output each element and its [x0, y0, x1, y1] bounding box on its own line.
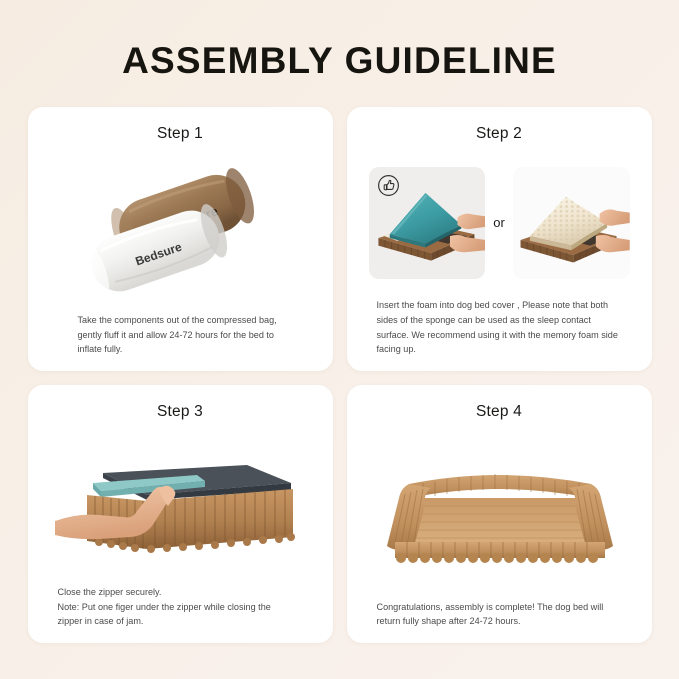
step-3-title: Step 3 — [50, 403, 311, 421]
step-1-title: Step 1 — [50, 125, 311, 143]
step-2-option-memory-foam — [513, 167, 630, 279]
step-card-4: Step 4 — [347, 385, 652, 643]
step-1-illustration: Bedsure Bedsure — [50, 147, 311, 313]
steps-grid: Step 1 — [28, 107, 652, 643]
assembly-guideline-page: ASSEMBLY GUIDELINE Step 1 — [0, 0, 679, 679]
compressed-bags-image: Bedsure Bedsure — [73, 165, 288, 295]
thumbs-up-icon — [377, 174, 400, 197]
step-2-separator: or — [489, 215, 509, 230]
step-card-1: Step 1 — [28, 107, 333, 371]
memory-foam-insert-image — [513, 173, 630, 273]
step-2-caption: Insert the foam into dog bed cover , Ple… — [369, 298, 630, 357]
step-1-caption: Take the components out of the compresse… — [50, 313, 311, 357]
back-bolster — [409, 474, 591, 498]
step-2-option-teal — [369, 167, 486, 279]
front-rail — [395, 542, 605, 563]
step-3-illustration — [50, 425, 311, 585]
page-title: ASSEMBLY GUIDELINE — [0, 0, 679, 79]
step-3-caption: Close the zipper securely. Note: Put one… — [50, 585, 311, 629]
step-2-illustration: or — [369, 147, 630, 298]
step-card-3: Step 3 — [28, 385, 333, 643]
step-card-2: Step 2 — [347, 107, 652, 371]
mattress — [395, 498, 605, 542]
step-4-title: Step 4 — [369, 403, 630, 421]
step-2-options: or — [369, 167, 630, 279]
step-4-illustration — [369, 425, 630, 600]
zipper-closing-image — [55, 445, 305, 565]
step-2-title: Step 2 — [369, 125, 630, 143]
step-4-caption: Congratulations, assembly is complete! T… — [369, 600, 630, 629]
finished-dog-bed-image — [379, 450, 619, 575]
